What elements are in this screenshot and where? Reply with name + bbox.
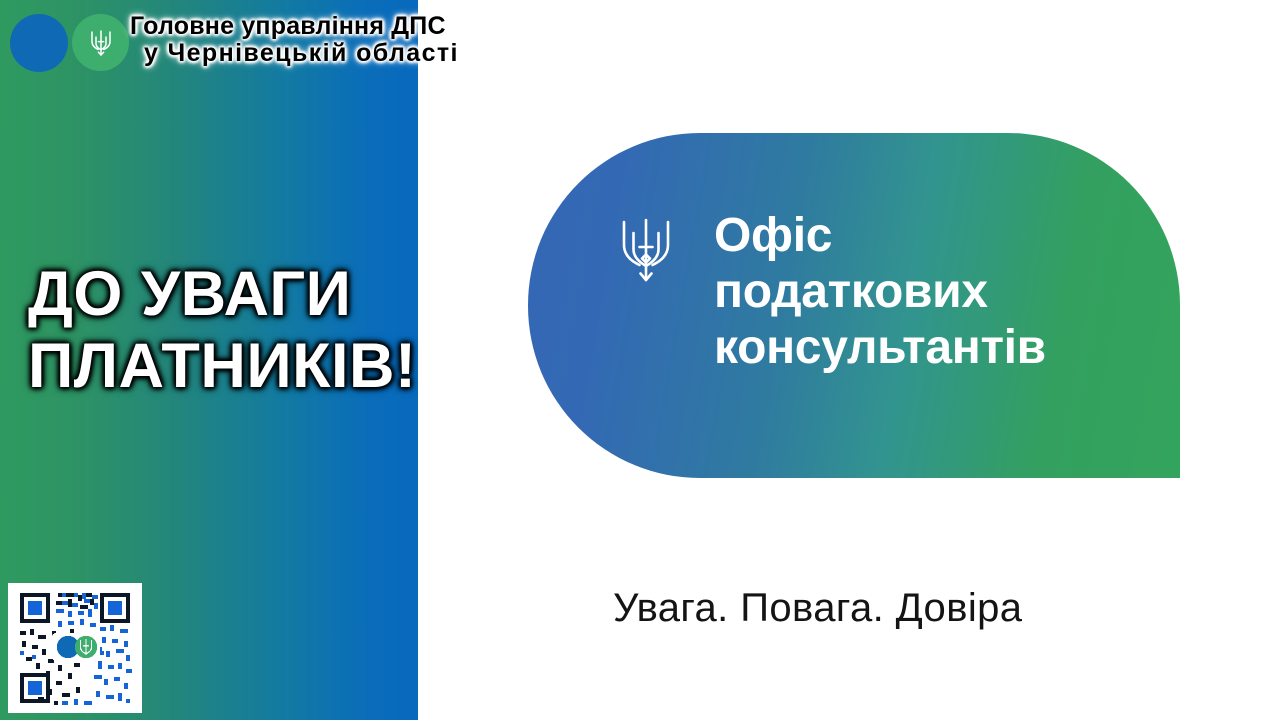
logo-blue-circle-icon [10, 14, 68, 72]
organization-logo [8, 12, 132, 74]
banner-canvas: Головне управління ДПС у Чернівецькій об… [0, 0, 1280, 720]
organization-name-line-1: Головне управління ДПС [130, 12, 446, 40]
logo-green-circle-trident-icon [72, 14, 129, 71]
qr-code-image [8, 583, 142, 713]
brand-card-content: Офіс податкових консультантів [616, 208, 1046, 376]
brand-card-title-line-3: консультантів [714, 320, 1046, 376]
brand-card-title-line-1: Офіс [714, 208, 1046, 264]
brand-card-title: Офіс податкових консультантів [714, 208, 1046, 376]
qr-center-logo [52, 633, 100, 661]
brand-card: Офіс податкових консультантів [528, 133, 1180, 478]
organization-name-line-2: у Чернівецькій області [130, 40, 530, 67]
trident-icon [616, 214, 676, 286]
brand-card-title-line-2: податкових [714, 264, 1046, 320]
tagline: Увага. Повага. Довіра [613, 586, 1022, 631]
qr-code[interactable] [8, 583, 142, 713]
organization-name: Головне управління ДПС у Чернівецькій об… [130, 13, 530, 67]
